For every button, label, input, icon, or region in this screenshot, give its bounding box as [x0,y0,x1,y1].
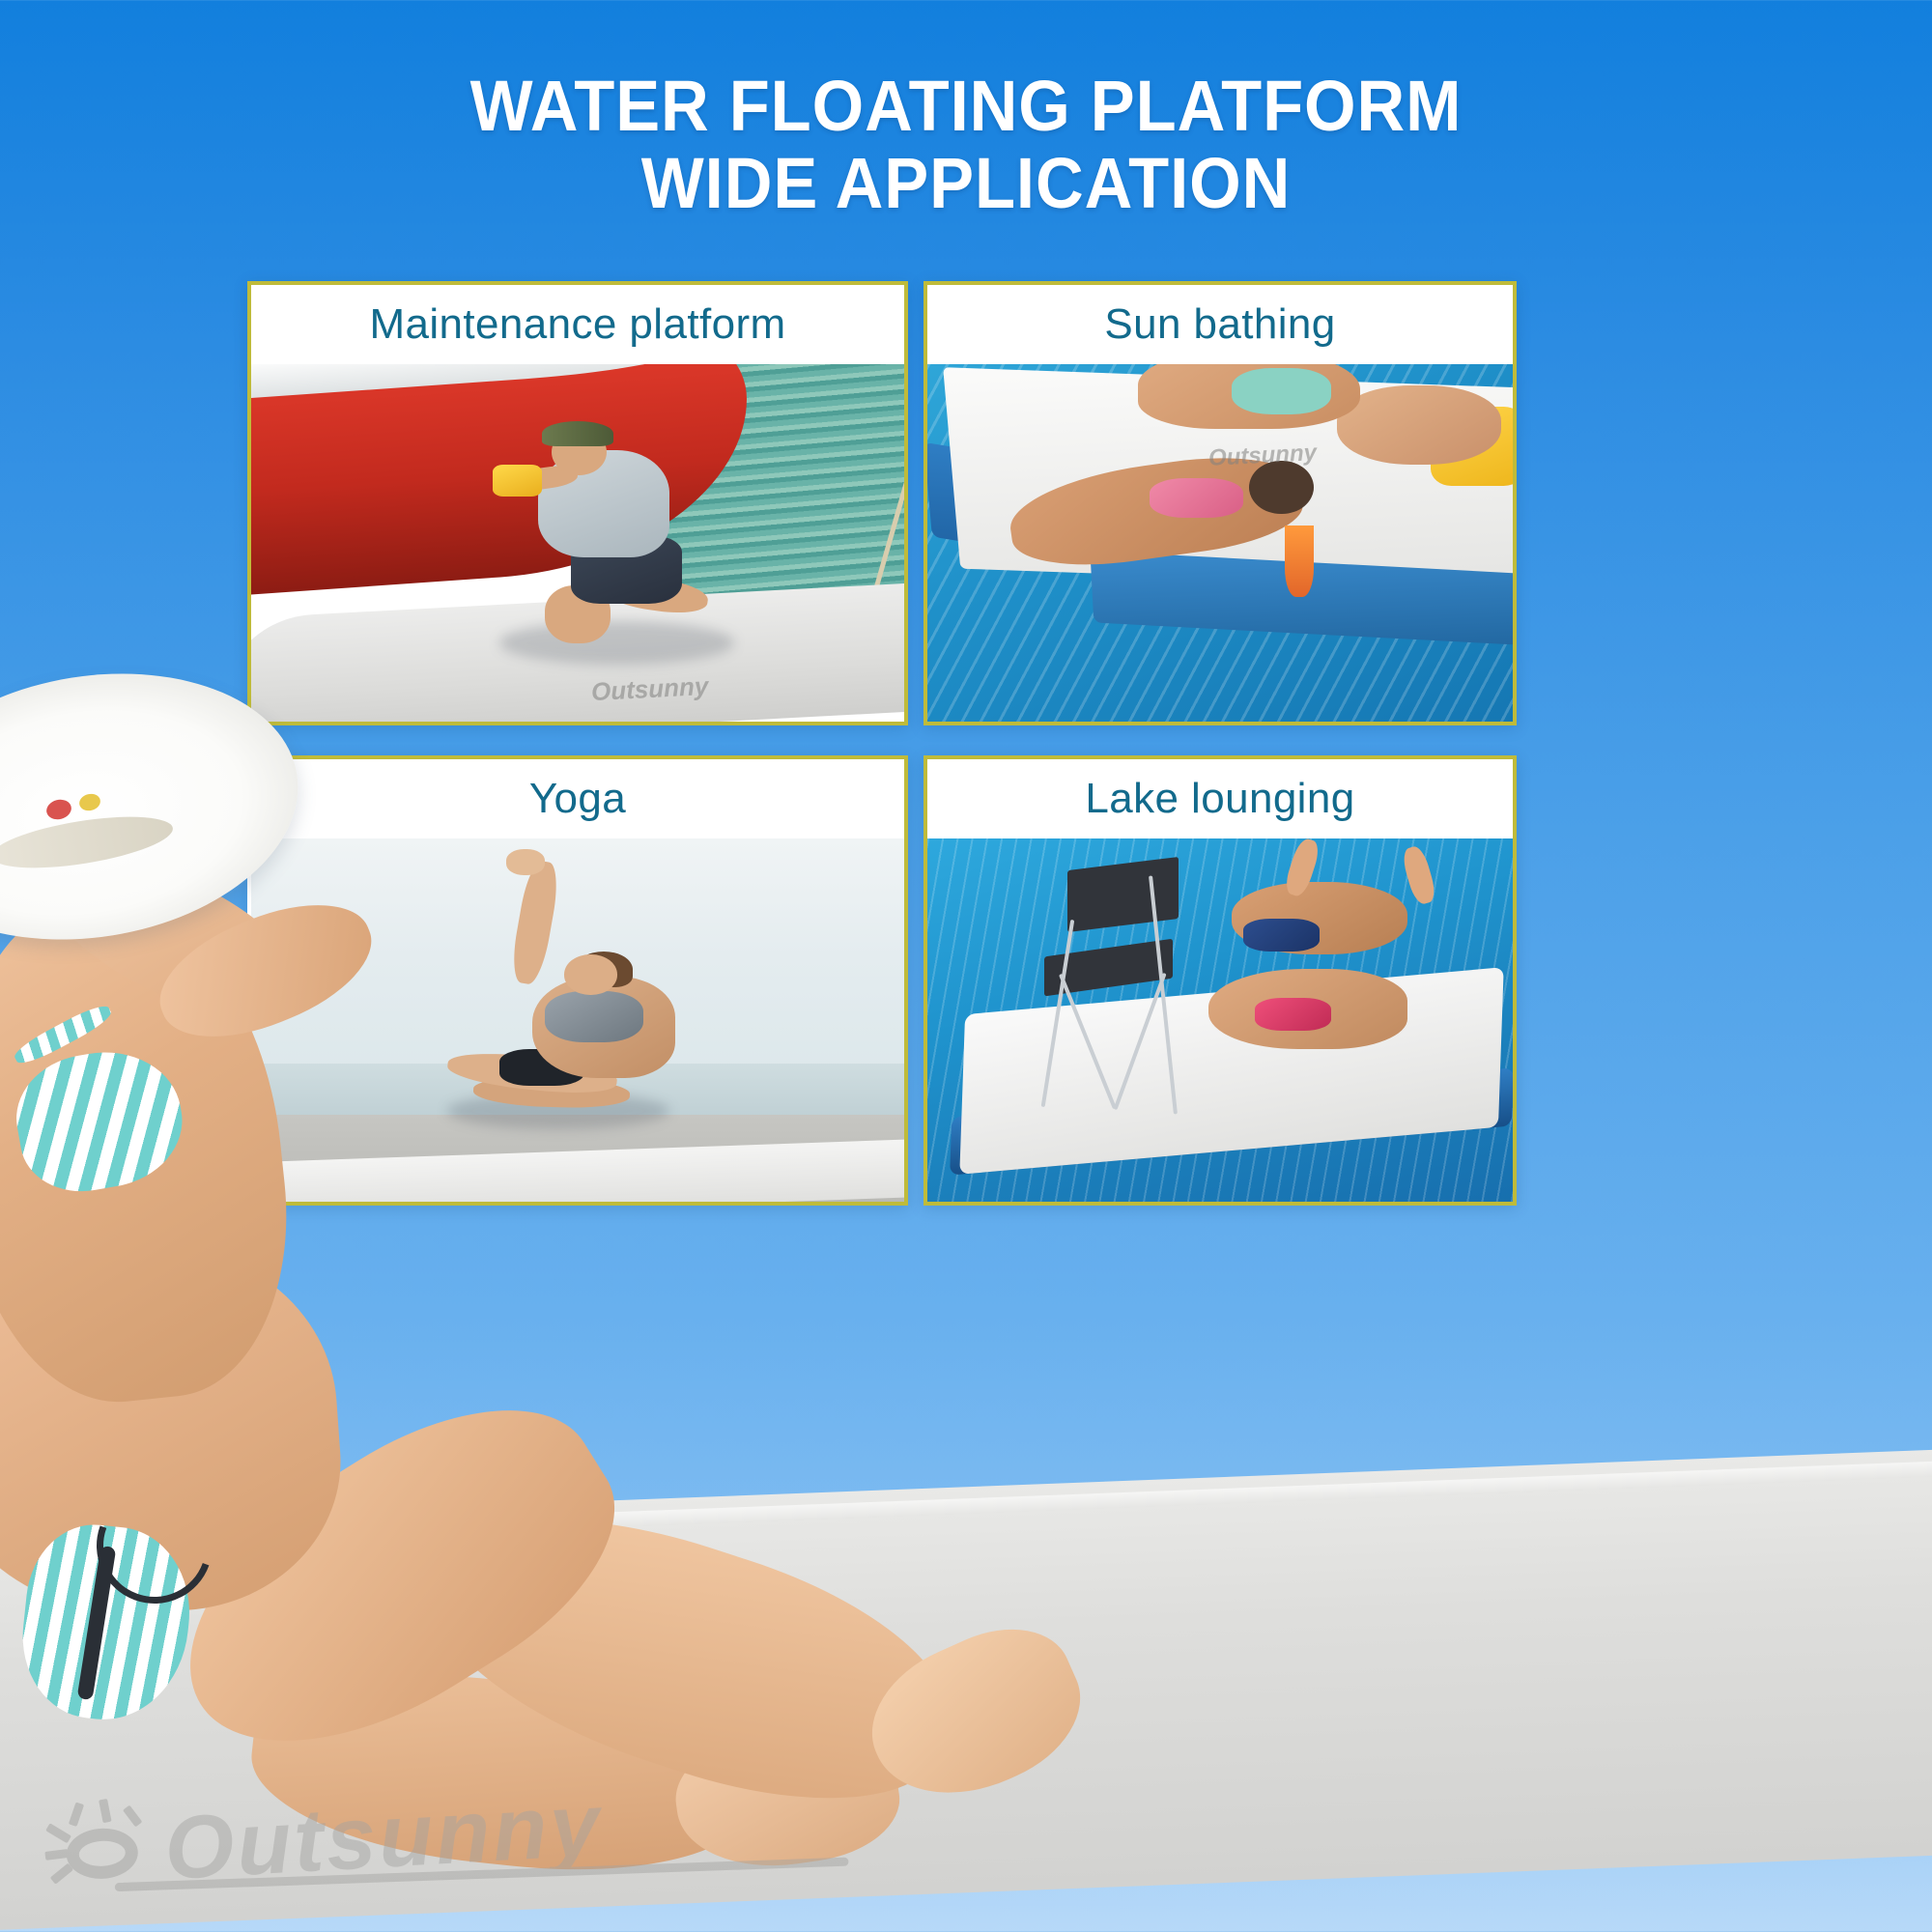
panel-photo-sunbathing: Outsunny [927,364,1513,722]
child-sunbather [1337,385,1501,464]
panel-sun-bathing[interactable]: Sun bathing Outsunny [923,281,1517,725]
page-title: WATER FLOATING PLATFORM WIDE APPLICATION [0,68,1932,222]
woman-bikini [1255,998,1331,1031]
title-line-1: WATER FLOATING PLATFORM [68,68,1864,145]
sun-ray [99,1799,111,1823]
person-one-swimsuit [1232,368,1331,414]
sun-ray [123,1805,142,1828]
panel-caption-text: Maintenance platform [369,300,785,349]
camo-cap-icon [542,421,613,446]
panel-maintenance-platform[interactable]: Maintenance platform Outsunny [247,281,908,725]
man-swim-shorts [1243,919,1320,952]
sun-disc [65,1827,139,1881]
body-shadow [499,621,734,664]
panel-caption-text: Sun bathing [1104,300,1335,349]
person-two-bikini [1150,478,1243,518]
sun-ray [50,1863,73,1885]
sun-ray [69,1802,84,1827]
sun-ray [45,1823,71,1843]
orange-drink-icon [1285,526,1314,597]
title-line-2: WIDE APPLICATION [68,145,1864,222]
panel-caption-maintenance: Maintenance platform [251,285,904,364]
panel-caption-sunbathing: Sun bathing [927,285,1513,364]
hero-foreground-model [0,676,1188,1932]
panel-photo-maintenance: Outsunny [251,364,904,722]
sun-ray [44,1849,69,1861]
yellow-sponge [493,465,542,497]
